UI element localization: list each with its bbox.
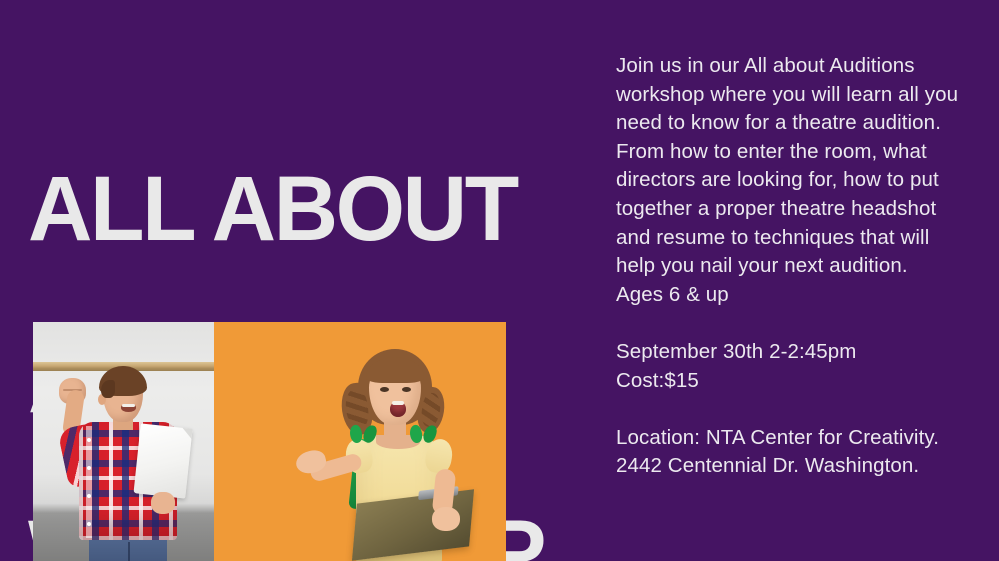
girl-bow-right bbox=[410, 425, 436, 443]
girl-eye-right bbox=[402, 387, 411, 392]
boy-hair bbox=[99, 366, 147, 396]
description-text: Join us in our All about Auditions works… bbox=[616, 52, 972, 309]
schedule-text: September 30th 2-2:45pm Cost:$15 bbox=[616, 338, 972, 395]
copy-spacer-2 bbox=[616, 395, 972, 424]
boy-right-hand bbox=[151, 492, 175, 514]
girl-mouth bbox=[390, 401, 406, 417]
photo-strip bbox=[33, 322, 506, 561]
girl-bow-left bbox=[350, 425, 376, 443]
location-text: Location: NTA Center for Creativity. 244… bbox=[616, 424, 972, 481]
girl-right-hand bbox=[432, 507, 460, 531]
boy-figure bbox=[41, 352, 214, 561]
boy-shirt-placket bbox=[86, 426, 92, 538]
flyer-canvas: ALL ABOUT AUDITIONS WORKSHOP bbox=[0, 0, 999, 561]
photo-girl-with-clipboard bbox=[214, 322, 506, 561]
boy-mouth bbox=[121, 404, 136, 412]
headline-line-1: ALL ABOUT bbox=[28, 166, 571, 252]
script-paper bbox=[133, 423, 192, 498]
info-column: Join us in our All about Auditions works… bbox=[616, 52, 972, 481]
photo-boy-with-script bbox=[33, 322, 214, 561]
copy-spacer-1 bbox=[616, 309, 972, 338]
girl-figure bbox=[306, 339, 506, 561]
girl-eye-left bbox=[380, 387, 389, 392]
